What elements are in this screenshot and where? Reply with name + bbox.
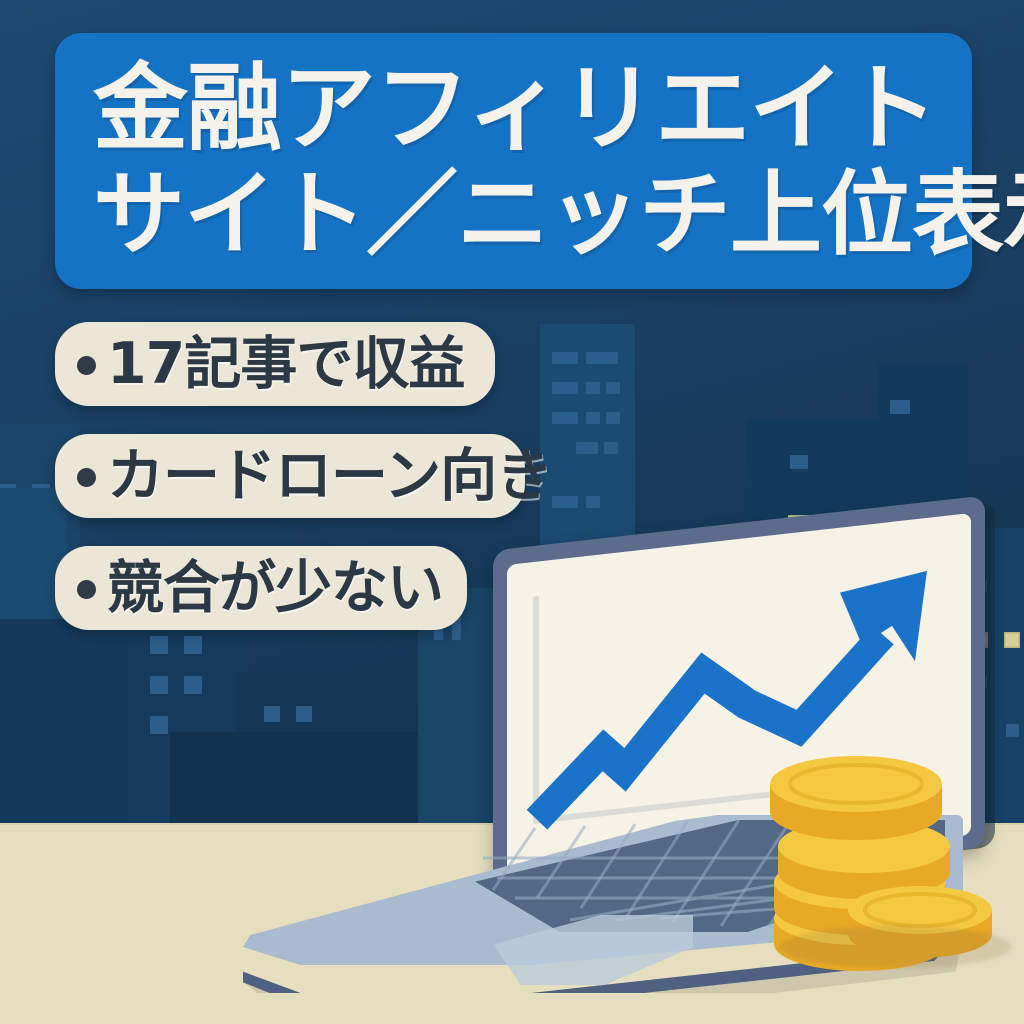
bullet-pill-2: カードローン向き: [55, 434, 525, 518]
title-banner: 金融アフィリエイト サイト／ニッチ上位表示: [55, 33, 972, 289]
bullet-pill-3: 競合が少ない: [55, 546, 467, 630]
bullet-label-3: 競合が少ない: [107, 558, 443, 618]
bullet-pill-1: 17記事で収益: [55, 322, 495, 406]
building-silhouette: [540, 324, 635, 494]
bullet-label-2: カードローン向き: [107, 446, 552, 506]
bullet-dot-icon: [77, 468, 96, 487]
title-line-2: サイト／ニッチ上位表示: [93, 163, 934, 267]
coin-stack-illustration: [760, 748, 1024, 984]
bullet-label-1: 17記事で収益: [107, 334, 464, 394]
coin-shadow: [780, 926, 1012, 968]
title-line-1: 金融アフィリエイト: [93, 55, 934, 163]
bullet-dot-icon: [77, 356, 96, 375]
poster-canvas: 金融アフィリエイト サイト／ニッチ上位表示 17記事で収益 カードローン向き 競…: [0, 0, 1024, 1024]
bullet-dot-icon: [77, 580, 96, 599]
